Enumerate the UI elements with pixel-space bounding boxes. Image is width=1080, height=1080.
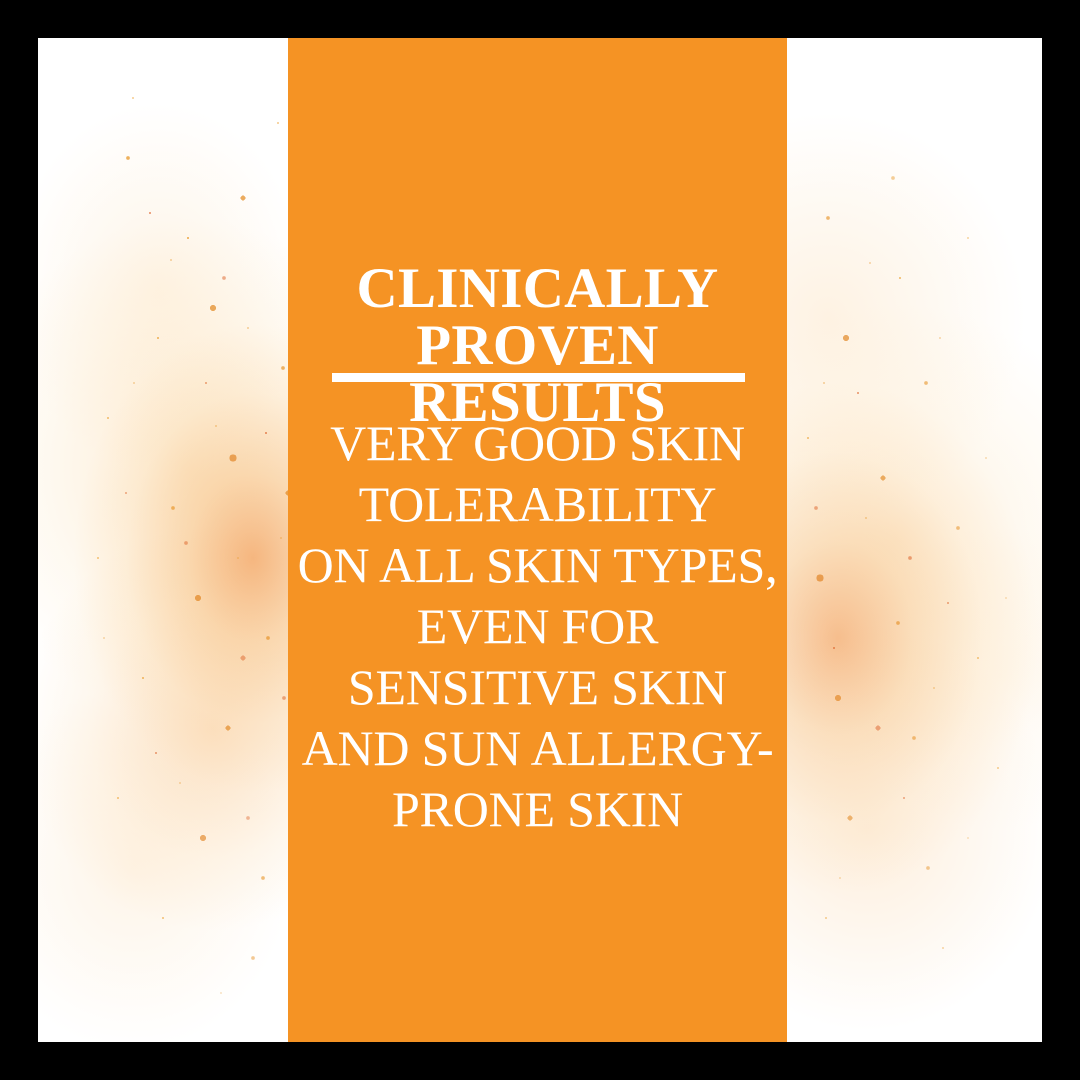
page-title: CLINICALLY PROVEN RESULTS: [288, 260, 787, 431]
poster-frame: CLINICALLY PROVEN RESULTS VERY GOOD SKIN…: [0, 0, 1080, 1080]
title-underline-rule: [332, 373, 745, 382]
claim-body-text: VERY GOOD SKIN TOLERABILITY ON ALL SKIN …: [288, 413, 787, 840]
poster-canvas: CLINICALLY PROVEN RESULTS VERY GOOD SKIN…: [38, 38, 1042, 1042]
orange-banner-panel: CLINICALLY PROVEN RESULTS VERY GOOD SKIN…: [288, 38, 787, 1042]
